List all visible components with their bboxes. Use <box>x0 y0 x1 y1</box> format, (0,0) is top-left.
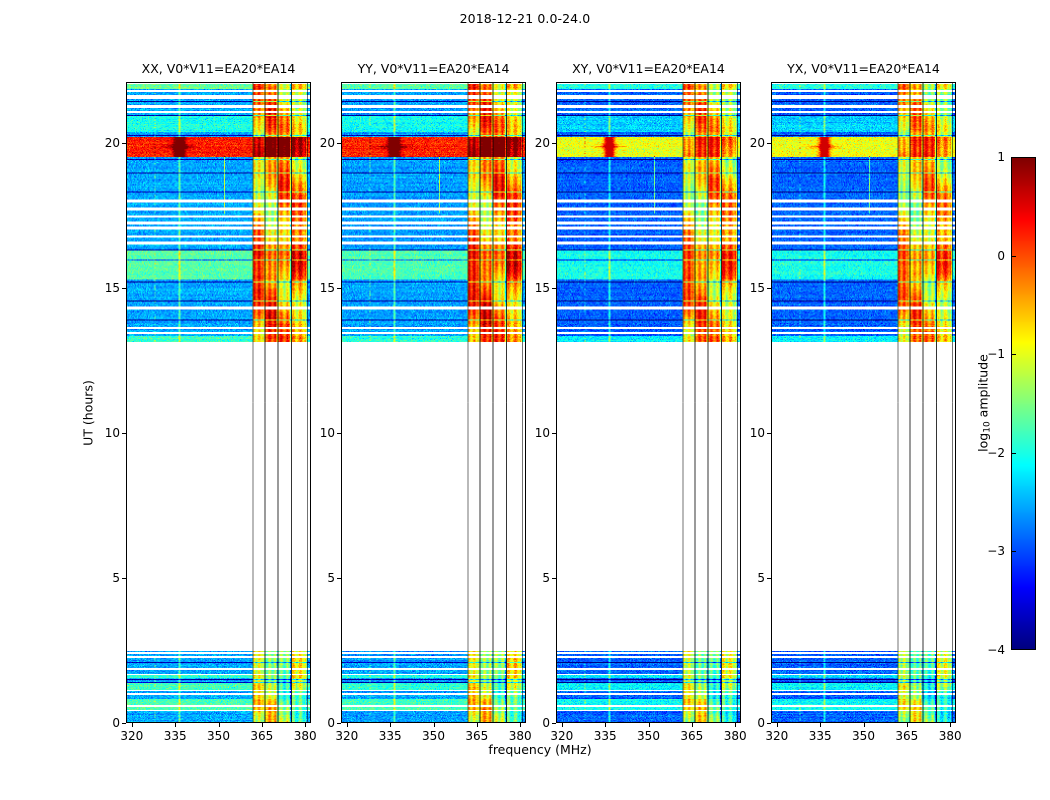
colorbar-tick-label: −1 <box>973 347 1005 361</box>
y-tick-label: 15 <box>305 281 335 295</box>
colorbar-tick-mark <box>1011 551 1016 552</box>
colorbar-label-tail: amplitude <box>976 354 991 421</box>
y-tick-mark <box>552 433 556 434</box>
x-tick-label: 320 <box>765 729 788 743</box>
x-tick-label: 380 <box>509 729 532 743</box>
y-axis-label: UT (hours) <box>81 380 96 446</box>
panel-title-xy: XY, V0*V11=EA20*EA14 <box>556 60 741 78</box>
y-tick-label: 20 <box>90 136 120 150</box>
heatmap-panel-xy[interactable] <box>556 82 741 723</box>
x-tick-label: 335 <box>594 729 617 743</box>
x-tick-label: 320 <box>120 729 143 743</box>
x-tick-label: 365 <box>465 729 488 743</box>
x-tick-mark <box>390 723 391 727</box>
x-tick-label: 350 <box>207 729 230 743</box>
heatmap-image-yx <box>772 83 955 722</box>
y-tick-mark <box>552 143 556 144</box>
colorbar-tick-label: 0 <box>973 249 1005 263</box>
colorbar-label: log10 amplitude <box>976 354 993 452</box>
y-tick-mark <box>767 723 771 724</box>
y-tick-label: 0 <box>520 716 550 730</box>
y-tick-label: 5 <box>305 571 335 585</box>
x-tick-mark <box>605 723 606 727</box>
x-tick-mark <box>864 723 865 727</box>
x-tick-mark <box>907 723 908 727</box>
x-tick-mark <box>347 723 348 727</box>
colorbar-tick-mark <box>1011 354 1016 355</box>
x-tick-mark <box>692 723 693 727</box>
heatmap-panel-yx[interactable] <box>771 82 956 723</box>
y-tick-mark <box>122 288 126 289</box>
x-axis-label: frequency (MHz) <box>488 742 591 757</box>
x-tick-mark <box>777 723 778 727</box>
colorbar-tick-label: −2 <box>973 446 1005 460</box>
x-tick-label: 380 <box>939 729 962 743</box>
y-tick-mark <box>122 433 126 434</box>
colorbar[interactable] <box>1011 157 1036 650</box>
x-tick-label: 380 <box>294 729 317 743</box>
x-tick-mark <box>132 723 133 727</box>
y-tick-label: 20 <box>305 136 335 150</box>
y-tick-mark <box>337 433 341 434</box>
y-tick-label: 0 <box>90 716 120 730</box>
y-tick-label: 15 <box>90 281 120 295</box>
y-tick-label: 20 <box>520 136 550 150</box>
heatmap-image-xy <box>557 83 740 722</box>
x-tick-label: 335 <box>809 729 832 743</box>
x-tick-label: 350 <box>637 729 660 743</box>
x-tick-label: 335 <box>164 729 187 743</box>
y-tick-mark <box>337 288 341 289</box>
heatmap-image-yy <box>342 83 525 722</box>
y-tick-mark <box>122 723 126 724</box>
y-tick-mark <box>337 578 341 579</box>
x-tick-mark <box>175 723 176 727</box>
x-tick-label: 365 <box>680 729 703 743</box>
figure-canvas: 2018-12-21 0.0-24.0 XX, V0*V11=EA20*EA14… <box>0 0 1050 800</box>
figure-suptitle: 2018-12-21 0.0-24.0 <box>0 11 1050 26</box>
x-tick-mark <box>950 723 951 727</box>
heatmap-image-xx <box>127 83 310 722</box>
x-tick-label: 350 <box>422 729 445 743</box>
y-tick-mark <box>552 723 556 724</box>
y-tick-mark <box>552 578 556 579</box>
y-tick-mark <box>122 143 126 144</box>
y-tick-label: 0 <box>305 716 335 730</box>
y-tick-mark <box>337 723 341 724</box>
x-tick-mark <box>477 723 478 727</box>
y-tick-mark <box>122 578 126 579</box>
x-tick-mark <box>649 723 650 727</box>
y-tick-mark <box>552 288 556 289</box>
x-tick-label: 350 <box>852 729 875 743</box>
x-tick-mark <box>562 723 563 727</box>
y-tick-label: 10 <box>305 426 335 440</box>
y-tick-label: 20 <box>735 136 765 150</box>
x-tick-mark <box>820 723 821 727</box>
x-tick-mark <box>262 723 263 727</box>
y-tick-label: 15 <box>735 281 765 295</box>
colorbar-tick-mark <box>1011 453 1016 454</box>
heatmap-panel-xx[interactable] <box>126 82 311 723</box>
x-tick-mark <box>434 723 435 727</box>
panel-title-yy: YY, V0*V11=EA20*EA14 <box>341 60 526 78</box>
colorbar-tick-label: −3 <box>973 544 1005 558</box>
y-tick-label: 10 <box>520 426 550 440</box>
y-tick-mark <box>767 288 771 289</box>
colorbar-tick-label: 1 <box>973 150 1005 164</box>
x-tick-label: 320 <box>550 729 573 743</box>
y-tick-mark <box>337 143 341 144</box>
y-tick-mark <box>767 578 771 579</box>
x-tick-label: 380 <box>724 729 747 743</box>
y-tick-mark <box>767 433 771 434</box>
x-tick-label: 320 <box>335 729 358 743</box>
y-tick-label: 5 <box>520 571 550 585</box>
x-tick-label: 365 <box>250 729 273 743</box>
y-tick-mark <box>767 143 771 144</box>
panel-title-yx: YX, V0*V11=EA20*EA14 <box>771 60 956 78</box>
colorbar-tick-mark <box>1011 256 1016 257</box>
x-tick-mark <box>219 723 220 727</box>
x-tick-label: 335 <box>379 729 402 743</box>
y-tick-label: 5 <box>90 571 120 585</box>
x-tick-label: 365 <box>895 729 918 743</box>
y-tick-label: 15 <box>520 281 550 295</box>
heatmap-panel-yy[interactable] <box>341 82 526 723</box>
y-tick-label: 0 <box>735 716 765 730</box>
y-tick-label: 10 <box>735 426 765 440</box>
colorbar-tick-label: −4 <box>973 643 1005 657</box>
colorbar-label-subscript: 10 <box>983 421 993 432</box>
y-tick-label: 5 <box>735 571 765 585</box>
panel-title-xx: XX, V0*V11=EA20*EA14 <box>126 60 311 78</box>
